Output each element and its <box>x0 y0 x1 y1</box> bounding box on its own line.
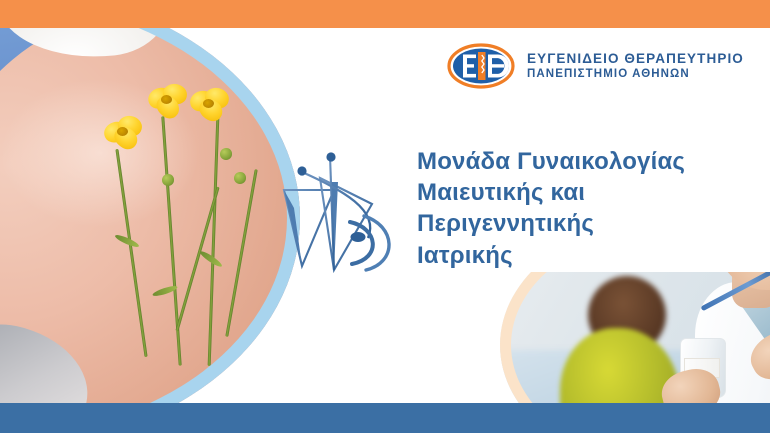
title-line-2: Μαιευτικής και <box>417 177 762 208</box>
buttercup-flower <box>104 116 144 148</box>
bottom-right-photo-image <box>500 272 770 403</box>
hospital-header: ΕΥΓΕΝΙΔΕΙΟ ΘΕΡΑΠΕΥΤΗΡΙΟ ΠΑΝΕΠΙΣΤΗΜΙΟ ΑΘΗ… <box>447 40 757 92</box>
bottom-blue-band <box>0 403 770 433</box>
title-line-4: Ιατρικής <box>417 240 762 271</box>
hospital-name-line2: ΠΑΝΕΠΙΣΤΗΜΙΟ ΑΘΗΝΩΝ <box>527 69 744 81</box>
hospital-name-line1: ΕΥΓΕΝΙΔΕΙΟ ΘΕΡΑΠΕΥΤΗΡΙΟ <box>527 52 744 66</box>
hospital-name-block: ΕΥΓΕΝΙΔΕΙΟ ΘΕΡΑΠΕΥΤΗΡΙΟ ΠΑΝΕΠΙΣΤΗΜΙΟ ΑΘΗ… <box>527 52 744 80</box>
banner: ΕΥΓΕΝΙΔΕΙΟ ΘΕΡΑΠΕΥΤΗΡΙΟ ΠΑΝΕΠΙΣΤΗΜΙΟ ΑΘΗ… <box>0 0 770 433</box>
title-line-1: Μονάδα Γυναικολογίας <box>417 146 762 177</box>
doctor-with-patient-photo <box>492 272 770 403</box>
top-orange-band <box>0 0 770 28</box>
flower-bud <box>234 172 246 184</box>
pregnant-belly-with-buttercups-photo <box>0 28 300 403</box>
page-title: Μονάδα Γυναικολογίας Μαιευτικής και Περι… <box>417 146 762 271</box>
flower-bud <box>220 148 232 160</box>
gynecology-unit-emblem-icon <box>272 146 400 274</box>
eugenideio-oval-logo-icon <box>447 42 515 90</box>
title-line-3: Περιγεννητικής <box>417 208 762 239</box>
buttercup-flower <box>148 84 188 116</box>
buttercup-flower <box>190 88 230 120</box>
flower-bud <box>162 174 174 186</box>
left-photo-image <box>0 28 300 403</box>
